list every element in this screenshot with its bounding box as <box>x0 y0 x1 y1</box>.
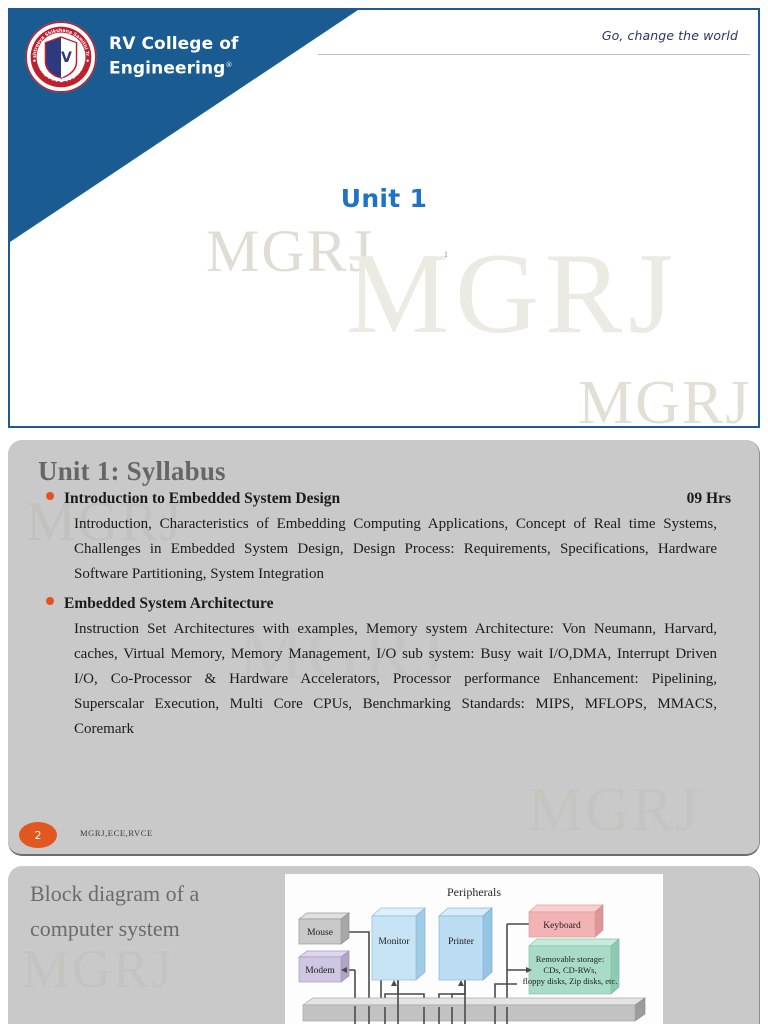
svg-text:Mouse: Mouse <box>307 928 333 938</box>
watermark-mgrj: MGRJ <box>578 368 751 428</box>
diagram-block-modem: Modem <box>299 951 349 982</box>
slide-1-number: 1 <box>444 250 448 259</box>
spacer <box>8 586 759 595</box>
svg-text:Removable storage:: Removable storage: <box>536 954 605 964</box>
svg-text:floppy disks, Zip disks, etc.: floppy disks, Zip disks, etc. <box>523 976 618 986</box>
syllabus-topic-title: Embedded System Architecture <box>64 595 717 613</box>
watermark-mgrj: MGRJ <box>346 228 679 361</box>
tagline: Go, change the world <box>602 28 738 43</box>
svg-text:Keyboard: Keyboard <box>543 921 581 931</box>
slide-1-heading: Unit 1 <box>10 184 758 213</box>
college-name-line1: RV College of <box>109 34 239 55</box>
diagram-caption-peripherals: Peripherals <box>447 885 501 899</box>
slide-1-title: Go, change the world RV Rashtreeya Shiks… <box>8 8 760 428</box>
diagram-block-keyboard: Keyboard <box>529 905 603 937</box>
header-rule <box>318 54 750 55</box>
slide-number-badge: 2 <box>19 822 57 848</box>
diagram-block-removable-storage: Removable storage: CDs, CD-RWs, floppy d… <box>523 939 619 994</box>
slide-deck-page: Go, change the world RV Rashtreeya Shiks… <box>0 0 768 1024</box>
registered-mark: ® <box>225 61 232 69</box>
diagram-block-mouse: Mouse <box>299 913 349 944</box>
college-logo-block: RV Rashtreeya Shikshana Samithi Trust IN… <box>24 20 239 94</box>
rv-institutions-seal-icon: RV Rashtreeya Shikshana Samithi Trust IN… <box>24 20 98 94</box>
college-name-line2: Engineering® <box>109 55 239 80</box>
slide-3-heading-line2: computer system <box>30 911 280 946</box>
slide-2-heading: Unit 1: Syllabus <box>38 456 226 487</box>
watermark-mgrj: MGRJ <box>22 938 174 1000</box>
watermark-mgrj: MGRJ <box>528 775 701 846</box>
syllabus-content: Introduction to Embedded System Design 0… <box>8 490 759 741</box>
bullet-dot-icon <box>46 492 54 500</box>
diagram-block-printer: Printer <box>439 908 492 980</box>
slide-2-syllabus: MGRJ MGRJ MGRJ Unit 1: Syllabus Introduc… <box>8 440 760 856</box>
svg-text:RV: RV <box>50 50 72 66</box>
slide-3-heading: Block diagram of a computer system <box>30 876 280 946</box>
syllabus-bullet-heading-row: Introduction to Embedded System Design 0… <box>8 490 759 508</box>
slide-footer: MGRJ,ECE,RVCE <box>80 828 153 838</box>
svg-text:Printer: Printer <box>448 937 475 947</box>
computer-system-block-diagram: Peripherals <box>285 874 663 1024</box>
slide-3-block-diagram: MGRJ Block diagram of a computer system … <box>8 866 760 1024</box>
diagram-block-monitor: Monitor <box>372 908 425 980</box>
svg-text:CDs, CD-RWs,: CDs, CD-RWs, <box>543 965 596 975</box>
syllabus-topic-body: Introduction, Characteristics of Embeddi… <box>8 510 759 586</box>
block-diagram-svg: Peripherals <box>285 874 663 1024</box>
slide-3-heading-line1: Block diagram of a <box>30 876 280 911</box>
syllabus-topic-title: Introduction to Embedded System Design <box>64 490 673 508</box>
syllabus-topic-hours: 09 Hrs <box>687 490 731 508</box>
svg-text:Monitor: Monitor <box>378 937 410 947</box>
syllabus-bullet-heading-row: Embedded System Architecture <box>8 595 759 613</box>
svg-text:Modem: Modem <box>305 966 335 976</box>
syllabus-topic-body: Instruction Set Architectures with examp… <box>8 615 759 741</box>
college-name: RV College of Engineering® <box>109 34 239 80</box>
bullet-dot-icon <box>46 597 54 605</box>
